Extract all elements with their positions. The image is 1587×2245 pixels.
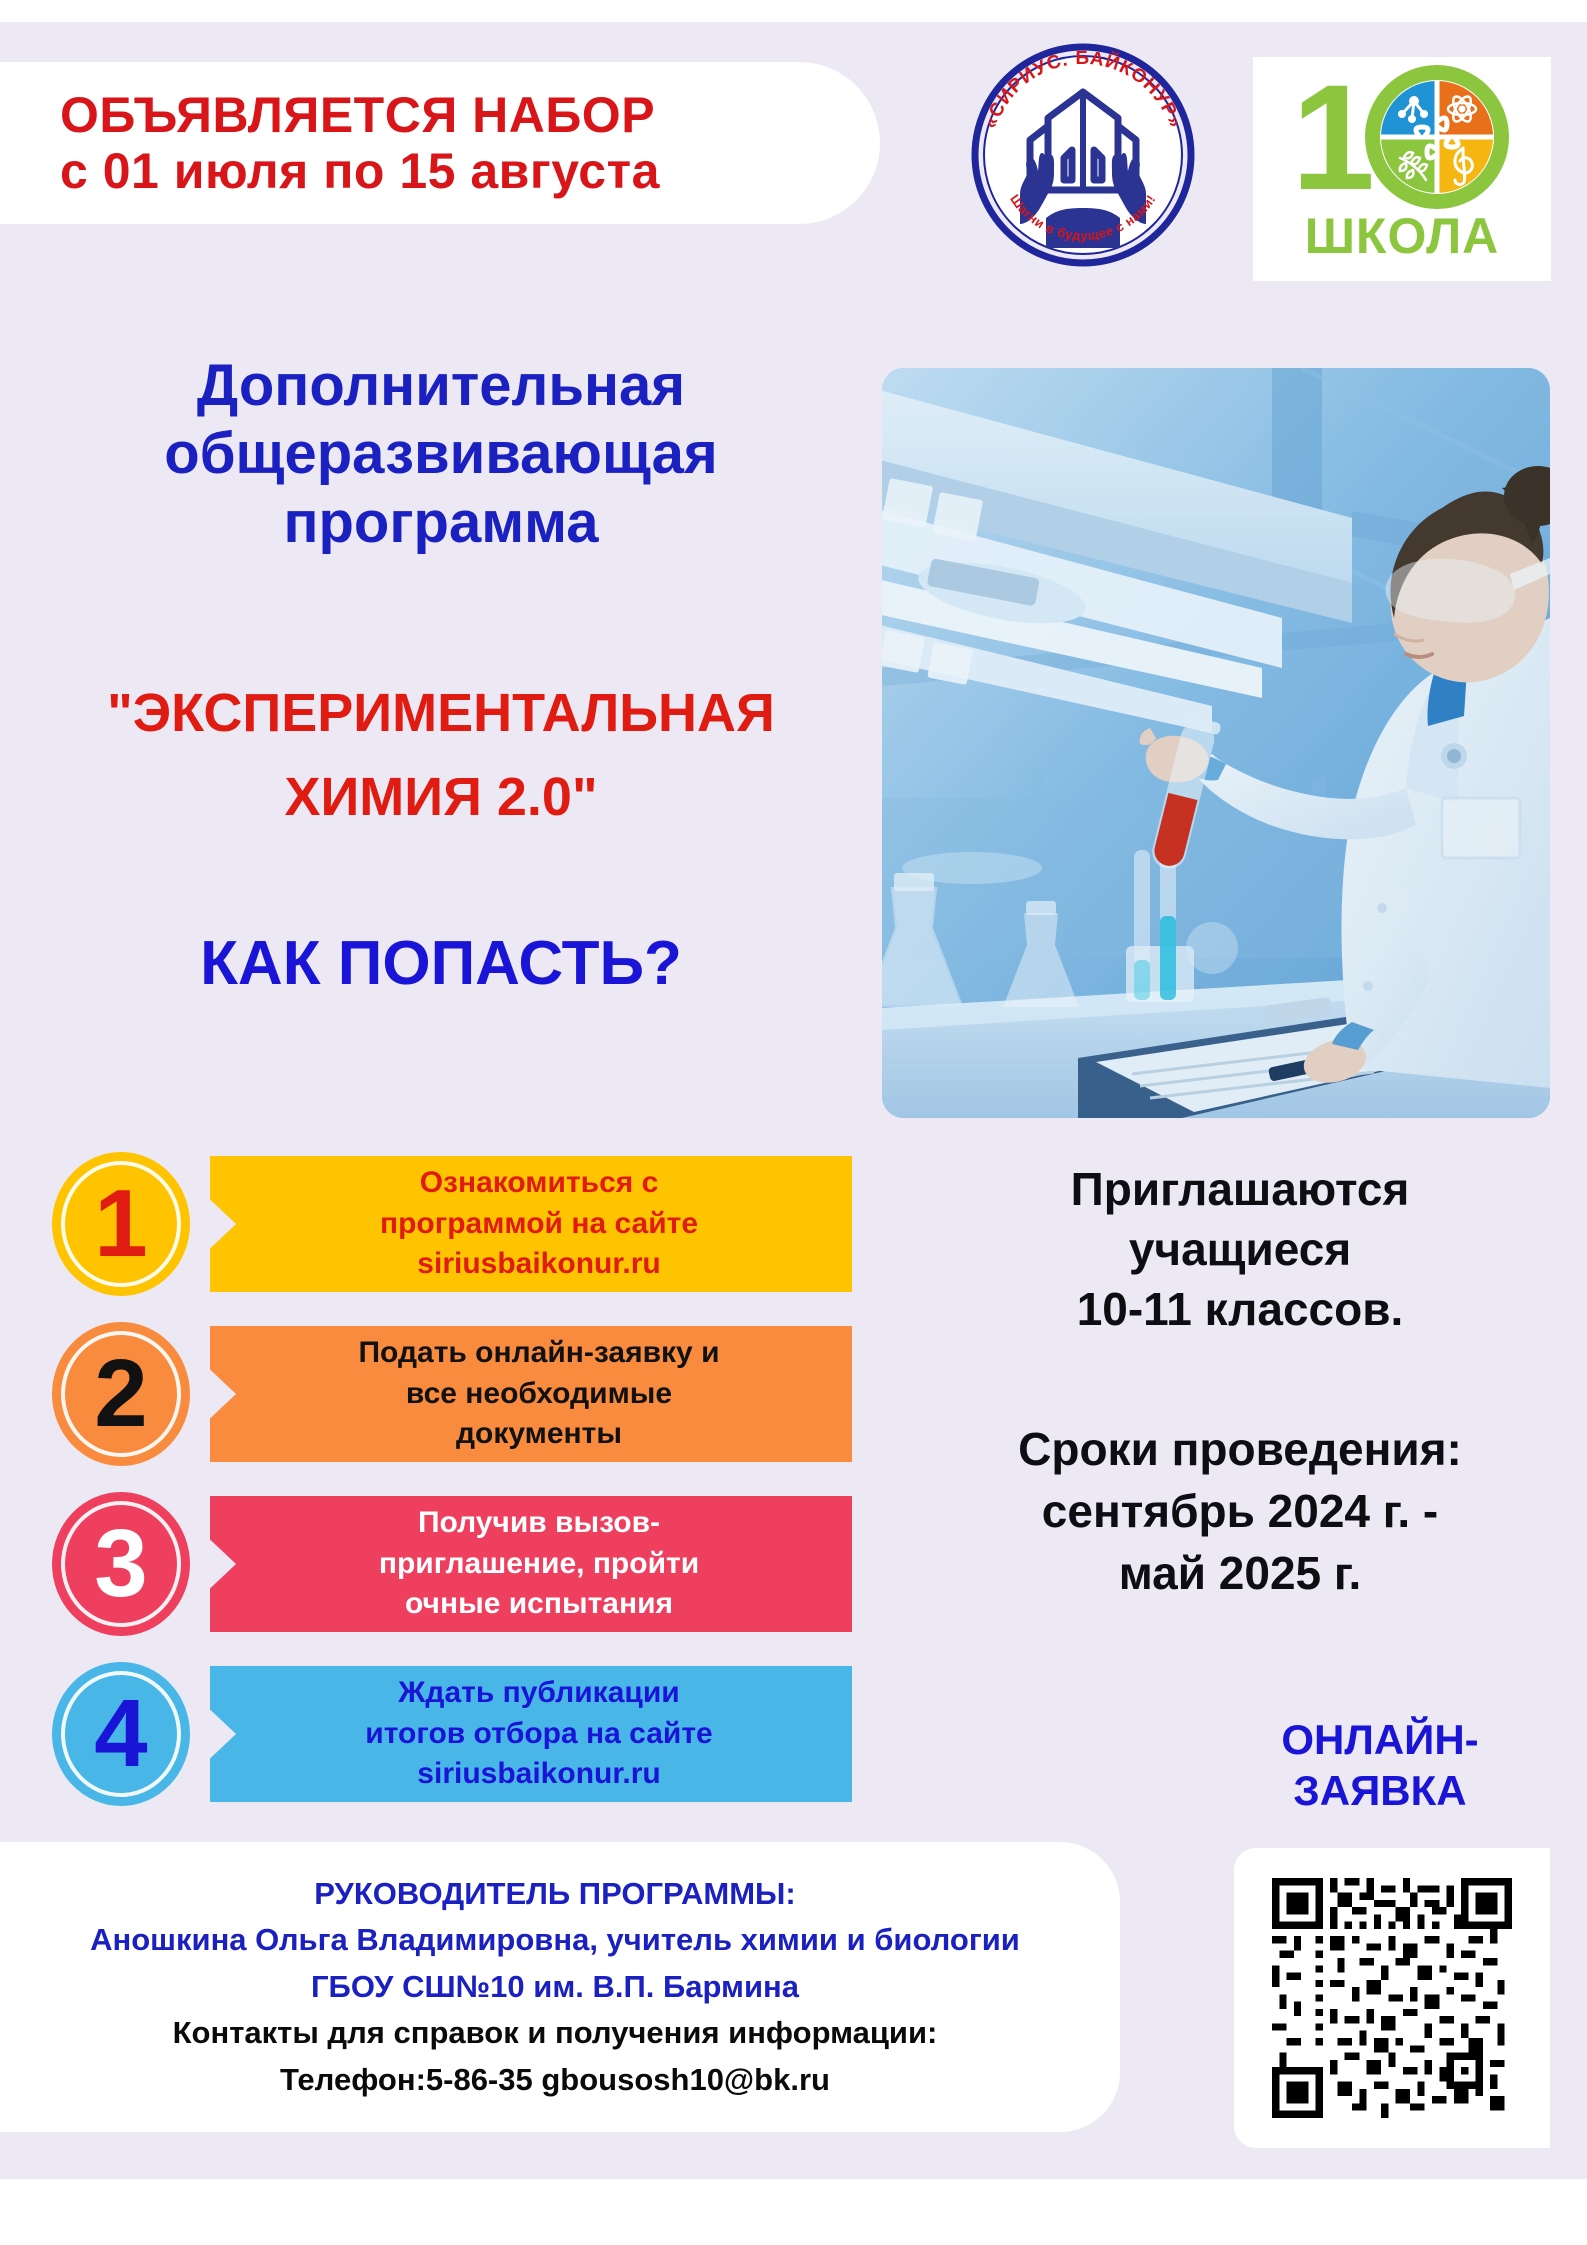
- step-2-text: Подать онлайн-заявку и все необходимые д…: [210, 1326, 852, 1462]
- audience-line-3: 10-11 классов.: [940, 1280, 1540, 1340]
- announcement-banner: ОБЪЯВЛЯЕТСЯ НАБОР с 01 июля по 15 август…: [0, 62, 880, 224]
- top-white-strip: [0, 0, 1587, 22]
- online-line-2: ЗАЯВКА: [1200, 1765, 1560, 1816]
- school-10-word: ШКОЛА: [1305, 211, 1500, 261]
- step-4-line-3: siriusbaikonur.ru: [365, 1754, 712, 1795]
- laboratory-photo: [882, 368, 1550, 1118]
- step-3-line-2: приглашение, пройти: [379, 1544, 699, 1585]
- poster-root: ОБЪЯВЛЯЕТСЯ НАБОР с 01 июля по 15 август…: [0, 0, 1587, 2245]
- step-3-line-1: Получив вызов-: [379, 1503, 699, 1544]
- qr-code-card[interactable]: [1234, 1848, 1550, 2148]
- sirius-baikonur-seal-logo: «СИРИУС. БАЙКОНУР» Шагни в будущее с нам…: [968, 40, 1198, 270]
- school-10-logo: 10: [1253, 57, 1551, 281]
- step-1-text: Ознакомиться с программой на сайте siriu…: [210, 1156, 852, 1292]
- footer-person: Аношкина Ольга Владимировна, учитель хим…: [90, 1917, 1020, 1964]
- footer-contacts-label: Контакты для справок и получения информа…: [173, 2010, 938, 2057]
- step-item-2: 2 Подать онлайн-заявку и все необходимые…: [52, 1318, 852, 1470]
- audience-line-2: учащиеся: [940, 1220, 1540, 1280]
- dates-line-2: сентябрь 2024 г. -: [930, 1480, 1550, 1542]
- school-10-mark: 10: [1253, 57, 1551, 217]
- how-to-apply-heading: КАК ПОПАСТЬ?: [36, 928, 846, 999]
- step-3-line-3: очные испытания: [379, 1584, 699, 1625]
- steps-list: 1 Ознакомиться с программой на сайте sir…: [52, 1148, 852, 1828]
- step-3-text: Получив вызов- приглашение, пройти очные…: [210, 1496, 852, 1632]
- announcement-line-1: ОБЪЯВЛЯЕТСЯ НАБОР: [60, 87, 880, 143]
- step-4-circle: 4: [52, 1662, 190, 1806]
- step-4-line-1: Ждать публикации: [365, 1673, 712, 1714]
- footer-contacts-value: Телефон:5-86-35 gbousosh10@bk.ru: [280, 2057, 830, 2104]
- program-title-line-3: программа: [36, 489, 846, 557]
- qr-code-icon: [1272, 1878, 1512, 2118]
- online-line-1: ОНЛАЙН-: [1200, 1714, 1560, 1765]
- audience-block: Приглашаются учащиеся 10-11 классов.: [940, 1160, 1540, 1339]
- step-3-circle: 3: [52, 1492, 190, 1636]
- program-title-line-2: общеразвивающая: [36, 420, 846, 488]
- step-4-line-2: итогов отбора на сайте: [365, 1714, 712, 1755]
- program-name-line-2: ХИМИЯ 2.0": [26, 756, 856, 840]
- step-2-number: 2: [94, 1346, 147, 1442]
- step-1-line-3: siriusbaikonur.ru: [380, 1244, 698, 1285]
- program-title-line-1: Дополнительная: [36, 352, 846, 420]
- step-item-1: 1 Ознакомиться с программой на сайте sir…: [52, 1148, 852, 1300]
- footer-contact-card: РУКОВОДИТЕЛЬ ПРОГРАММЫ: Аношкина Ольга В…: [0, 1842, 1120, 2132]
- program-name: "ЭКСПЕРИМЕНТАЛЬНАЯ ХИМИЯ 2.0": [26, 672, 856, 839]
- audience-line-1: Приглашаются: [940, 1160, 1540, 1220]
- step-item-4: 4 Ждать публикации итогов отбора на сайт…: [52, 1658, 852, 1810]
- dates-line-1: Сроки проведения:: [930, 1418, 1550, 1480]
- step-2-line-3: документы: [358, 1414, 719, 1455]
- program-name-line-1: "ЭКСПЕРИМЕНТАЛЬНАЯ: [26, 672, 856, 756]
- step-4-text: Ждать публикации итогов отбора на сайте …: [210, 1666, 852, 1802]
- step-4-number: 4: [94, 1686, 147, 1782]
- step-1-line-1: Ознакомиться с: [380, 1163, 698, 1204]
- announcement-line-2: с 01 июля по 15 августа: [60, 143, 880, 199]
- step-1-number: 1: [94, 1176, 147, 1272]
- step-1-line-2: программой на сайте: [380, 1204, 698, 1245]
- step-1-circle: 1: [52, 1152, 190, 1296]
- online-application-label: ОНЛАЙН- ЗАЯВКА: [1200, 1714, 1560, 1816]
- bottom-white-strip: [0, 2179, 1587, 2245]
- step-2-line-1: Подать онлайн-заявку и: [358, 1333, 719, 1374]
- footer-heading: РУКОВОДИТЕЛЬ ПРОГРАММЫ:: [314, 1871, 795, 1918]
- footer-organization: ГБОУ СШ№10 им. В.П. Бармина: [311, 1964, 799, 2011]
- step-3-number: 3: [94, 1516, 147, 1612]
- dates-block: Сроки проведения: сентябрь 2024 г. - май…: [930, 1418, 1550, 1604]
- step-2-circle: 2: [52, 1322, 190, 1466]
- step-2-line-2: все необходимые: [358, 1374, 719, 1415]
- program-title: Дополнительная общеразвивающая программа: [36, 352, 846, 557]
- step-item-3: 3 Получив вызов- приглашение, пройти очн…: [52, 1488, 852, 1640]
- dates-line-3: май 2025 г.: [930, 1542, 1550, 1604]
- puzzle-circle-icon: [1362, 62, 1512, 212]
